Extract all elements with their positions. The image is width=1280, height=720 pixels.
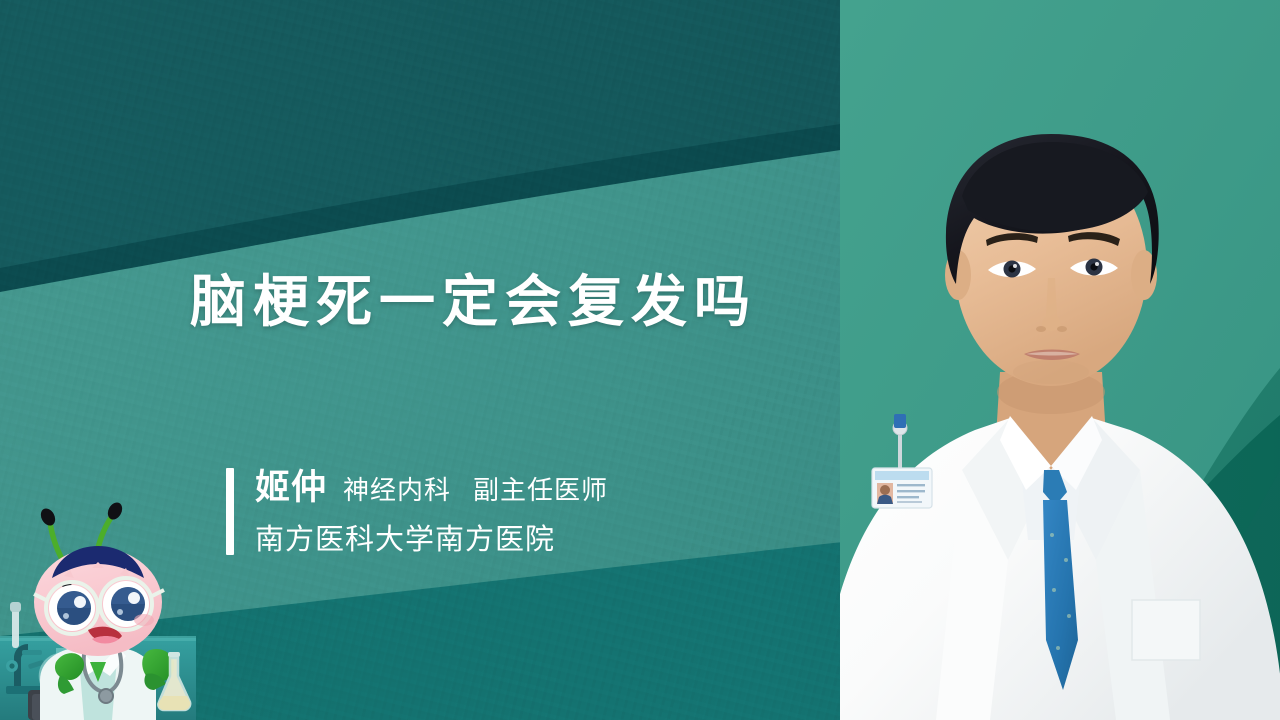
coat-pocket — [1132, 600, 1200, 660]
doctor-info-block: 姬仲 神经内科 副主任医师 南方医科大学南方医院 — [226, 468, 608, 555]
mascot-eye-left — [49, 585, 95, 631]
doctor-rank: 副主任医师 — [473, 477, 608, 503]
doctor-info-primary-line: 姬仲 神经内科 副主任医师 — [255, 470, 608, 505]
doctor-info-text: 姬仲 神经内科 副主任医师 南方医科大学南方医院 — [234, 468, 608, 555]
lab-scientist-mascot — [0, 490, 196, 720]
stethoscope-chestpiece — [99, 689, 113, 703]
accent-bar — [226, 468, 234, 555]
video-title-card: 脑梗死一定会复发吗 姬仲 神经内科 副主任医师 南方医科大学南方医院 — [0, 0, 1280, 720]
doctor-portrait — [840, 0, 1280, 720]
doctor-name: 姬仲 — [255, 470, 327, 505]
doctor-department: 神经内科 — [343, 477, 451, 503]
mascot-illustration — [0, 490, 196, 720]
doctor-hospital: 南方医科大学南方医院 — [255, 526, 608, 555]
doctor-portrait-illustration — [840, 0, 1280, 720]
page-title: 脑梗死一定会复发吗 — [190, 272, 870, 335]
